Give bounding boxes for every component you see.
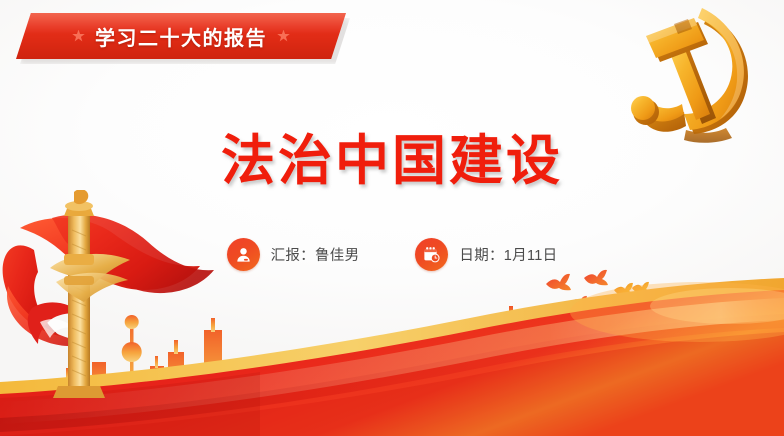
- meta-item-date: 日期：1月11日: [415, 238, 557, 271]
- slide-title: 法治中国建设: [0, 116, 784, 195]
- presentation-slide: 学习二十大的报告 法治中国建设 汇报：鲁佳男: [0, 0, 784, 436]
- star-icon-right: [277, 30, 290, 43]
- ribbon-title-text: 学习二十大的报告: [95, 22, 267, 51]
- meta-reporter-text: 汇报：鲁佳男: [271, 244, 360, 265]
- star-icon-left: [72, 30, 85, 43]
- calendar-clock-icon: [415, 238, 448, 271]
- meta-date-text: 日期：1月11日: [459, 244, 557, 265]
- meta-item-reporter: 汇报：鲁佳男: [227, 238, 360, 271]
- slide-background: [0, 0, 784, 436]
- slide-meta-row: 汇报：鲁佳男 日期：1月11日: [0, 238, 784, 271]
- person-icon: [227, 238, 260, 271]
- ribbon-body: 学习二十大的报告: [16, 13, 346, 59]
- header-ribbon-banner: 学习二十大的报告: [16, 13, 346, 61]
